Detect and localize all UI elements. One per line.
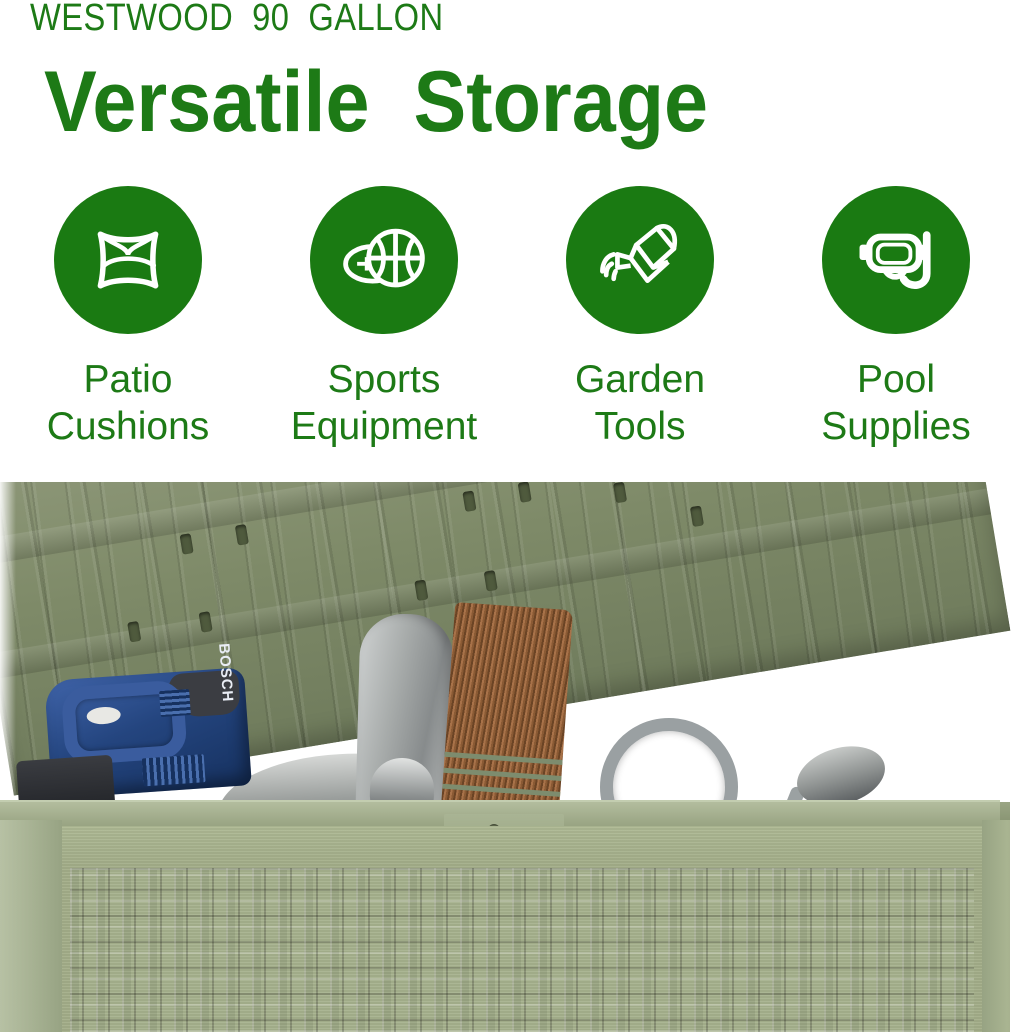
- deck-box-front-panel: [62, 826, 982, 1032]
- feature-item-sports-equipment: Sports Equipment: [256, 186, 512, 450]
- wood-grain-texture: [62, 826, 982, 1032]
- feature-label-garden-tools: Garden Tools: [575, 356, 705, 450]
- broom-tie: [442, 784, 560, 797]
- tool-vents: [159, 689, 191, 717]
- photo-right-edge: [1010, 800, 1024, 1032]
- feature-item-pool-supplies: Pool Supplies: [768, 186, 1024, 450]
- diving-mask-icon: [848, 212, 944, 308]
- feature-item-garden-tools: Garden Tools: [512, 186, 768, 450]
- deck-box-left-post: [0, 820, 62, 1032]
- feature-list: Patio Cushions: [0, 186, 1024, 486]
- feature-badge-patio-cushions: [54, 186, 202, 334]
- broom: [441, 602, 573, 816]
- pillow-icon: [82, 214, 174, 306]
- tool-vents: [142, 754, 206, 786]
- broom-tie: [445, 752, 563, 765]
- feature-label-sports-equipment: Sports Equipment: [291, 356, 477, 450]
- feature-item-patio-cushions: Patio Cushions: [0, 186, 256, 450]
- shovel: [355, 613, 454, 815]
- product-marketing-image: WESTWOOD 90 GALLON Versatile Storage Pat…: [0, 0, 1024, 1032]
- product-eyebrow-text: WESTWOOD 90 GALLON: [30, 0, 444, 40]
- feature-badge-sports-equipment: [310, 186, 458, 334]
- watering-can-icon: [593, 213, 687, 307]
- deck-box-body: [0, 800, 1024, 1032]
- product-photo: BOSCH: [0, 482, 1024, 1032]
- page-title: Versatile Storage: [44, 52, 708, 152]
- feature-badge-garden-tools: [566, 186, 714, 334]
- feature-label-patio-cushions: Patio Cushions: [47, 356, 210, 450]
- broom-tie: [443, 768, 561, 781]
- feature-label-pool-supplies: Pool Supplies: [821, 356, 971, 450]
- feature-badge-pool-supplies: [822, 186, 970, 334]
- sports-balls-icon: [336, 212, 432, 308]
